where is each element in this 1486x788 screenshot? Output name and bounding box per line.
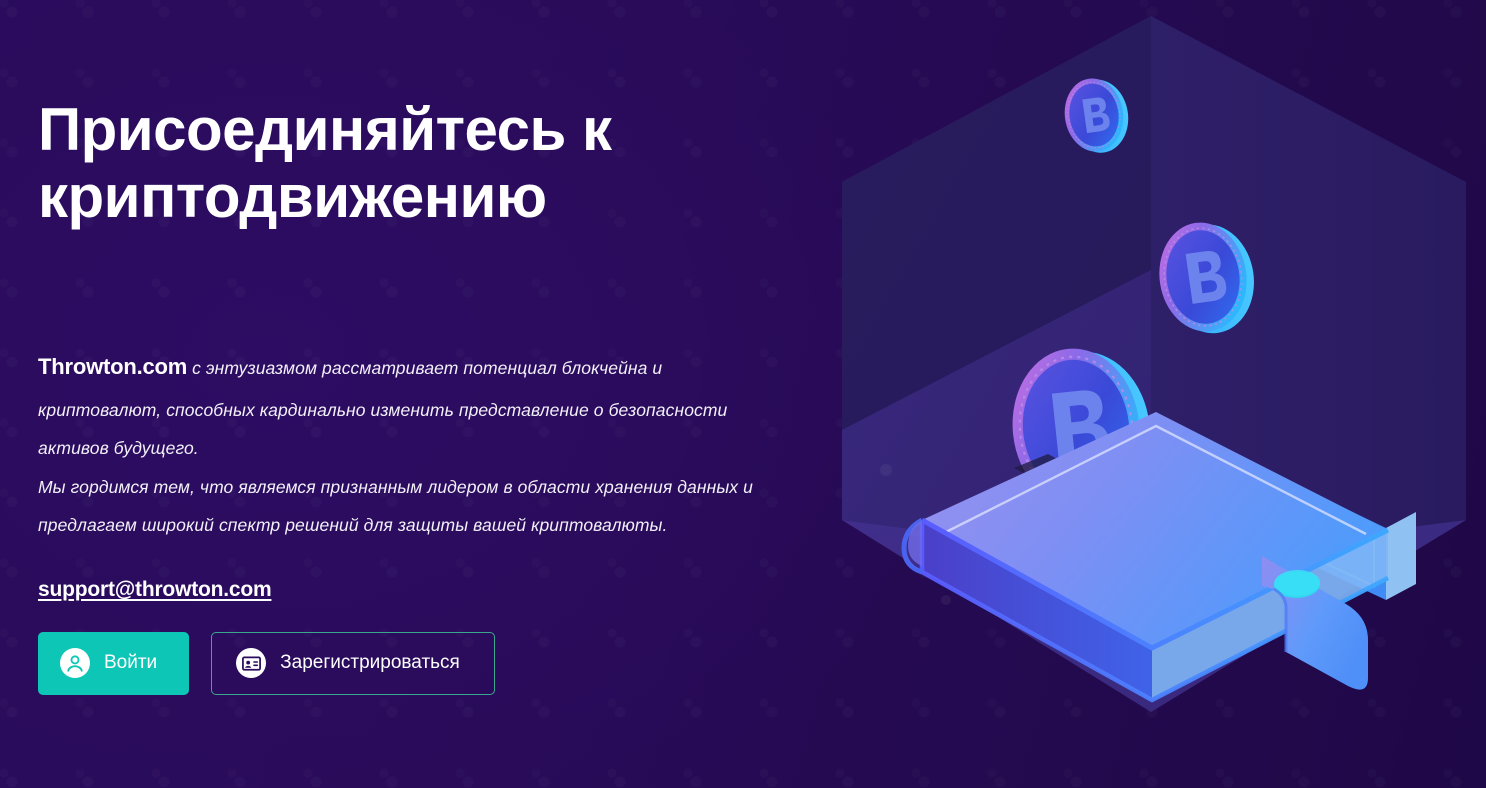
brand-name: Throwton.com [38,354,187,379]
support-email-link[interactable]: support@throwton.com [38,578,271,602]
hero-description: Throwton.com с энтузиазмом рассматривает… [38,343,768,544]
register-button[interactable]: Зарегистрироваться [211,632,495,695]
paragraph-1: Throwton.com с энтузиазмом рассматривает… [38,343,768,467]
register-button-label: Зарегистрироваться [280,652,460,674]
user-icon [60,648,90,678]
hero-copy: Присоединяйтесь к криптодвижению Throwto… [38,96,808,695]
isometric-crypto-wallet-illustration [826,0,1486,788]
hero-section: Присоединяйтесь к криптодвижению Throwto… [0,0,1486,788]
login-button[interactable]: Войти [38,632,189,695]
login-button-label: Войти [104,652,157,674]
page-title: Присоединяйтесь к криптодвижению [38,96,698,230]
hero-actions: Войти Зарегистрироваться [38,632,808,695]
paragraph-2: Мы гордимся тем, что являемся признанным… [38,468,768,544]
id-card-icon [236,648,266,678]
